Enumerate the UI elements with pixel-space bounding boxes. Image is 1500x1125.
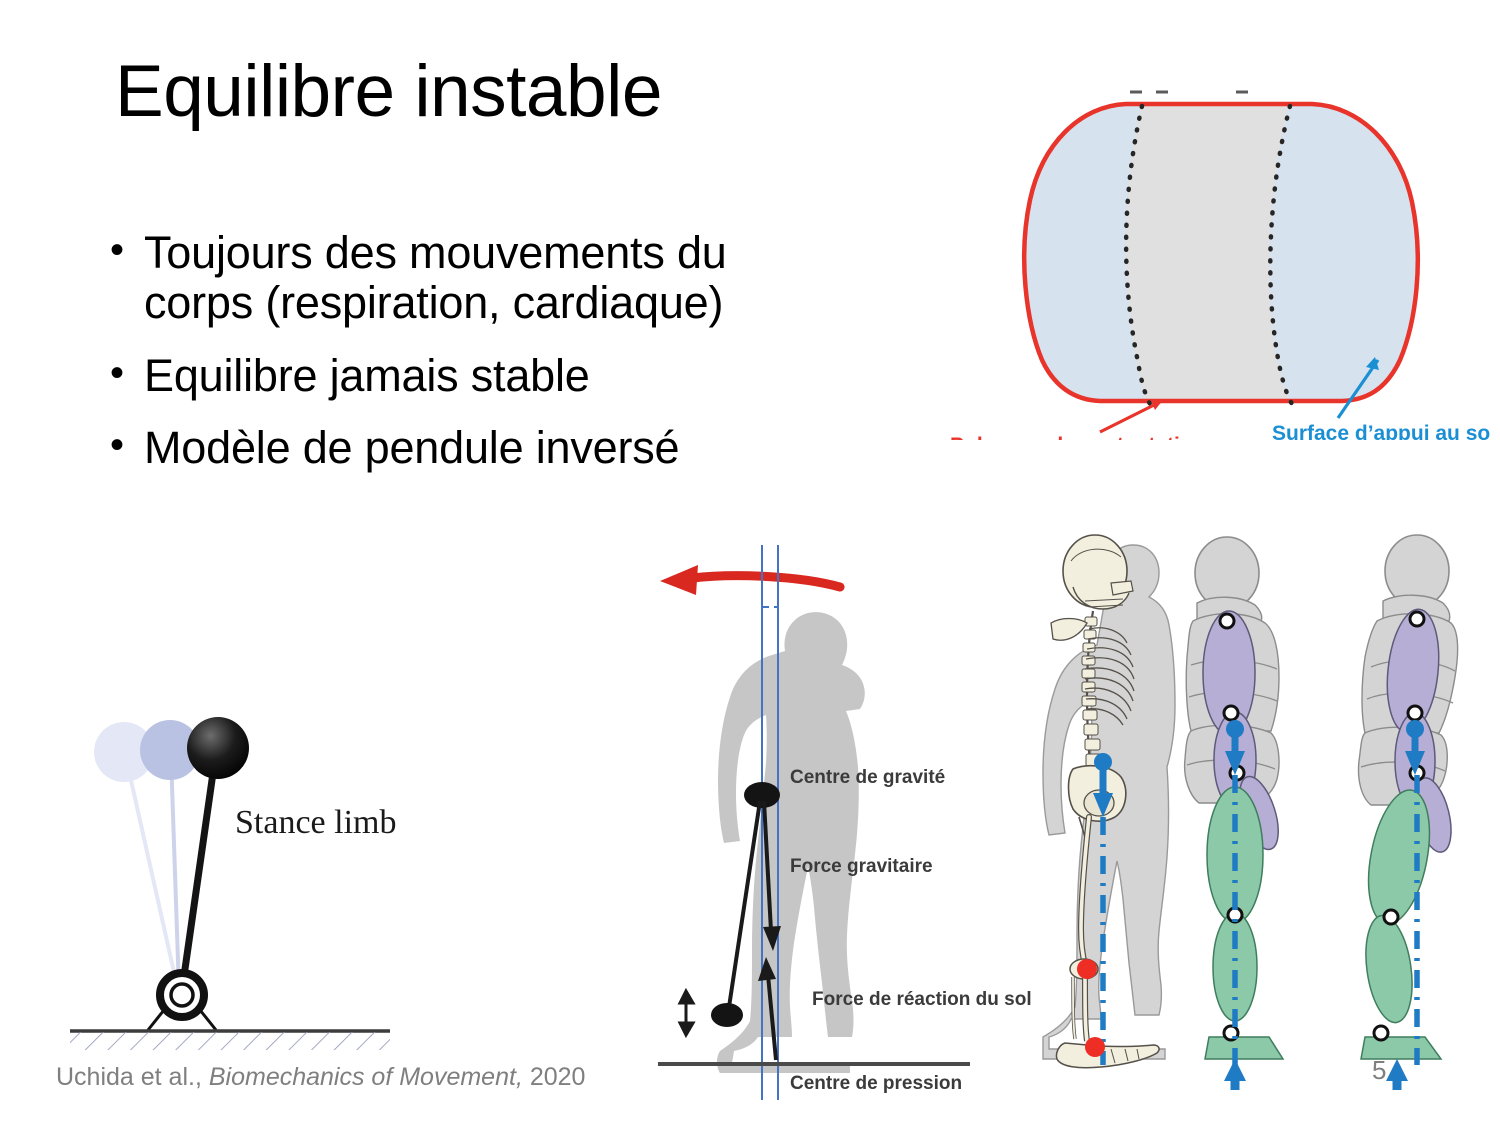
leaning-segment-model — [1359, 535, 1458, 1090]
list-item: • Equilibre jamais stable — [110, 351, 900, 401]
list-item: • Toujours des mouvements du corps (resp… — [110, 228, 900, 329]
bullet-text: Toujours des mouvements du corps (respir… — [144, 228, 727, 329]
bullet-text: Equilibre jamais stable — [144, 351, 590, 401]
ankle-sway-indicator-icon — [680, 991, 693, 1035]
center-of-pressure-diagram: Centre de gravité Force gravitaire Force… — [640, 545, 1060, 1100]
bullet-line-1: Toujours des mouvements du — [144, 227, 727, 278]
bullet-marker-icon: • — [110, 228, 144, 273]
inter-foot-region — [1126, 100, 1292, 408]
center-of-gravity-marker — [744, 782, 780, 808]
ground-reaction-arrow — [1224, 1059, 1246, 1090]
page-title: Equilibre instable — [115, 55, 662, 128]
ground-reaction-arrow — [1386, 1059, 1408, 1090]
bullet-line-2: corps (respiration, cardiaque) — [144, 277, 723, 328]
list-item: • Modèle de pendule inversé — [110, 423, 900, 473]
knee-marker — [1077, 959, 1097, 979]
polygon-callout: Polygone de sustentation — [950, 399, 1206, 440]
bullet-list: • Toujours des mouvements du corps (resp… — [110, 228, 900, 496]
sway-direction-arrow-icon — [660, 565, 840, 595]
upright-segment-model — [1185, 537, 1286, 1090]
bullet-marker-icon: • — [110, 351, 144, 396]
citation-work: Biomechanics of Movement, — [209, 1063, 523, 1091]
skeleton-side-view — [1043, 535, 1175, 1068]
stance-limb-label: Stance limb — [235, 804, 396, 841]
citation-year: 2020 — [523, 1063, 586, 1091]
citation-footnote: Uchida et al., Biomechanics of Movement,… — [56, 1063, 585, 1092]
cog-label: Centre de gravité — [790, 767, 945, 788]
ground-reaction-force-label: Force de réaction du sol — [812, 989, 1032, 1010]
citation-author: Uchida et al., — [56, 1063, 209, 1091]
pivot-joint-icon — [148, 973, 216, 1030]
contact-surface-label: Surface d’appui au sol — [1272, 422, 1490, 440]
cop-label: Centre de pression — [790, 1073, 962, 1094]
bullet-text: Modèle de pendule inversé — [144, 423, 679, 473]
bullet-marker-icon: • — [110, 423, 144, 468]
ground-hatching — [70, 1032, 390, 1050]
base-of-support-diagram: Polygone de sustentation Surface d’appui… — [930, 60, 1490, 440]
inverted-pendulum-diagram: Stance limb — [60, 690, 510, 1050]
polygon-label: Polygone de sustentation — [950, 434, 1206, 440]
ankle-marker — [1085, 1037, 1105, 1057]
body-segment-model-diagram — [1015, 525, 1500, 1090]
pendulum-stance-limb — [182, 717, 249, 990]
gravity-force-label: Force gravitaire — [790, 856, 933, 877]
slide-canvas: Equilibre instable • Toujours des mouvem… — [0, 0, 1500, 1125]
ankle-pivot-marker — [711, 1003, 743, 1027]
